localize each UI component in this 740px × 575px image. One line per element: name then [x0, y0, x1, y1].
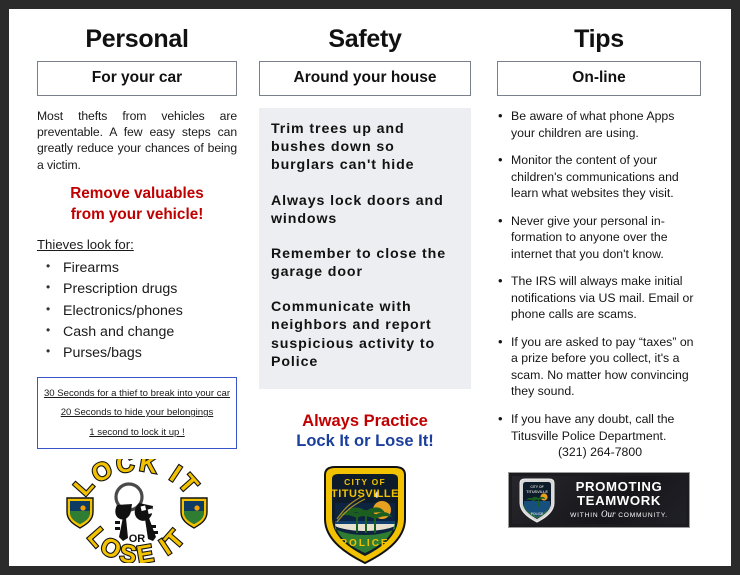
- personal-red-callout: Remove valuables from your vehicle!: [37, 183, 237, 225]
- panel-personal-title: Personal: [37, 25, 237, 54]
- timing-text: 20 Seconds to hide your belongings: [61, 407, 214, 418]
- panel-tips-subtitle-box: On-line: [497, 61, 701, 96]
- always-practice-slogan: Always Practice Lock It or Lose It!: [259, 411, 471, 451]
- panel-personal-subtitle: For your car: [92, 69, 182, 86]
- safety-tip: Always lock doors and windows: [271, 192, 461, 228]
- lock-it-or-lose-it-logo: LOCK IT LOSE IT OR: [53, 459, 221, 563]
- list-item: Prescription drugs: [43, 279, 237, 300]
- banner-line-2: TEAMWORK: [557, 494, 681, 507]
- banner-badge-icon: CITY OF TITUSVILLE POLICE: [517, 477, 557, 523]
- list-item-contact: If you have any doubt, call the Titusvil…: [497, 411, 701, 461]
- timing-line: 30 Seconds for a thief to break into you…: [43, 388, 231, 400]
- callout-line-2: from your vehicle!: [37, 204, 237, 225]
- banner-line-1: PROMOTING: [557, 480, 681, 493]
- panel-safety-subtitle: Around your house: [294, 69, 437, 86]
- list-item: If you are asked to pay “taxes” on a pri…: [497, 334, 701, 400]
- list-item: Be aware of what phone Apps your childre…: [497, 108, 701, 141]
- banner-line-3-mid: Our: [601, 509, 616, 519]
- list-item: Firearms: [43, 258, 237, 279]
- logo-or-text: OR: [129, 533, 146, 545]
- list-item: Monitor the content of your children's c…: [497, 152, 701, 202]
- logo-top-text: LOCK IT: [68, 459, 205, 501]
- list-item: The IRS will always make initial notific…: [497, 273, 701, 323]
- svg-text:CITY OF: CITY OF: [530, 485, 543, 489]
- panel-safety-subtitle-box: Around your house: [259, 61, 471, 96]
- panel-safety-title: Safety: [259, 25, 471, 54]
- banner-line-3: WITHIN Our COMMUNITY.: [557, 510, 681, 520]
- promoting-teamwork-banner: CITY OF TITUSVILLE POLICE PROMOTING TEAM…: [508, 472, 690, 528]
- list-item: Cash and change: [43, 322, 237, 343]
- logo-left-badge: [67, 498, 93, 528]
- timing-line: 20 Seconds to hide your belongings: [43, 407, 231, 419]
- safety-tips-panel: Trim trees up and bushes down so burglar…: [259, 108, 471, 389]
- brochure-columns: Personal For your car Most thefts from v…: [9, 9, 731, 566]
- thieves-look-for-heading: Thieves look for:: [37, 237, 237, 252]
- thieves-target-list: Firearms Prescription drugs Electronics/…: [37, 258, 237, 364]
- banner-line-3-pre: WITHIN: [570, 512, 598, 519]
- brochure-sheet: Personal For your car Most thefts from v…: [9, 9, 731, 566]
- timing-text: 1 second to lock it up !: [89, 427, 184, 438]
- timing-facts-box: 30 Seconds for a thief to break into you…: [37, 377, 237, 450]
- slogan-line-2: Lock It or Lose It!: [259, 431, 471, 451]
- banner-text: PROMOTING TEAMWORK WITHIN Our COMMUNITY.: [557, 480, 681, 520]
- panel-safety: Safety Around your house Trim trees up a…: [249, 23, 481, 562]
- safety-tip: Communicate with neighbors and report su…: [271, 298, 461, 371]
- list-item: Never give your personal in-formation to…: [497, 213, 701, 263]
- timing-line: 1 second to lock it up !: [43, 427, 231, 439]
- timing-text: 30 Seconds for a thief to break into you…: [44, 388, 230, 399]
- svg-text:LOCK IT: LOCK IT: [68, 459, 205, 501]
- panel-personal-subtitle-box: For your car: [37, 61, 237, 96]
- police-phone-number: (321) 264-7800: [511, 444, 701, 461]
- logo-right-badge: [181, 498, 207, 528]
- safety-tip: Trim trees up and bushes down so burglar…: [271, 120, 461, 175]
- panel-tips-subtitle: On-line: [572, 69, 625, 86]
- panel-personal: Personal For your car Most thefts from v…: [21, 23, 249, 562]
- online-tips-list: Be aware of what phone Apps your childre…: [497, 108, 701, 461]
- banner-inner: CITY OF TITUSVILLE POLICE PROMOTING TEAM…: [512, 476, 686, 524]
- list-item: Purses/bags: [43, 343, 237, 364]
- badge-line-3: POLICE: [340, 538, 389, 549]
- panel-tips-title: Tips: [497, 25, 701, 54]
- list-item: Electronics/phones: [43, 301, 237, 322]
- personal-intro-paragraph: Most thefts from vehicles are preventabl…: [37, 108, 237, 173]
- svg-text:TITUSVILLE: TITUSVILLE: [526, 490, 548, 494]
- contact-text: If you have any doubt, call the Titusvil…: [511, 412, 674, 443]
- svg-text:POLICE: POLICE: [531, 512, 544, 516]
- badge-line-1: CITY OF: [344, 477, 386, 487]
- slogan-line-1: Always Practice: [259, 411, 471, 431]
- titusville-police-badge: CITY OF TITUSVILLE POLICE: [319, 463, 411, 567]
- safety-tip: Remember to close the garage door: [271, 245, 461, 281]
- callout-line-1: Remove valuables: [37, 183, 237, 204]
- banner-line-3-post: COMMUNITY.: [618, 512, 668, 519]
- panel-tips: Tips On-line Be aware of what phone Apps…: [481, 23, 709, 562]
- badge-line-2: TITUSVILLE: [331, 488, 399, 500]
- brochure-page: Personal For your car Most thefts from v…: [0, 0, 740, 575]
